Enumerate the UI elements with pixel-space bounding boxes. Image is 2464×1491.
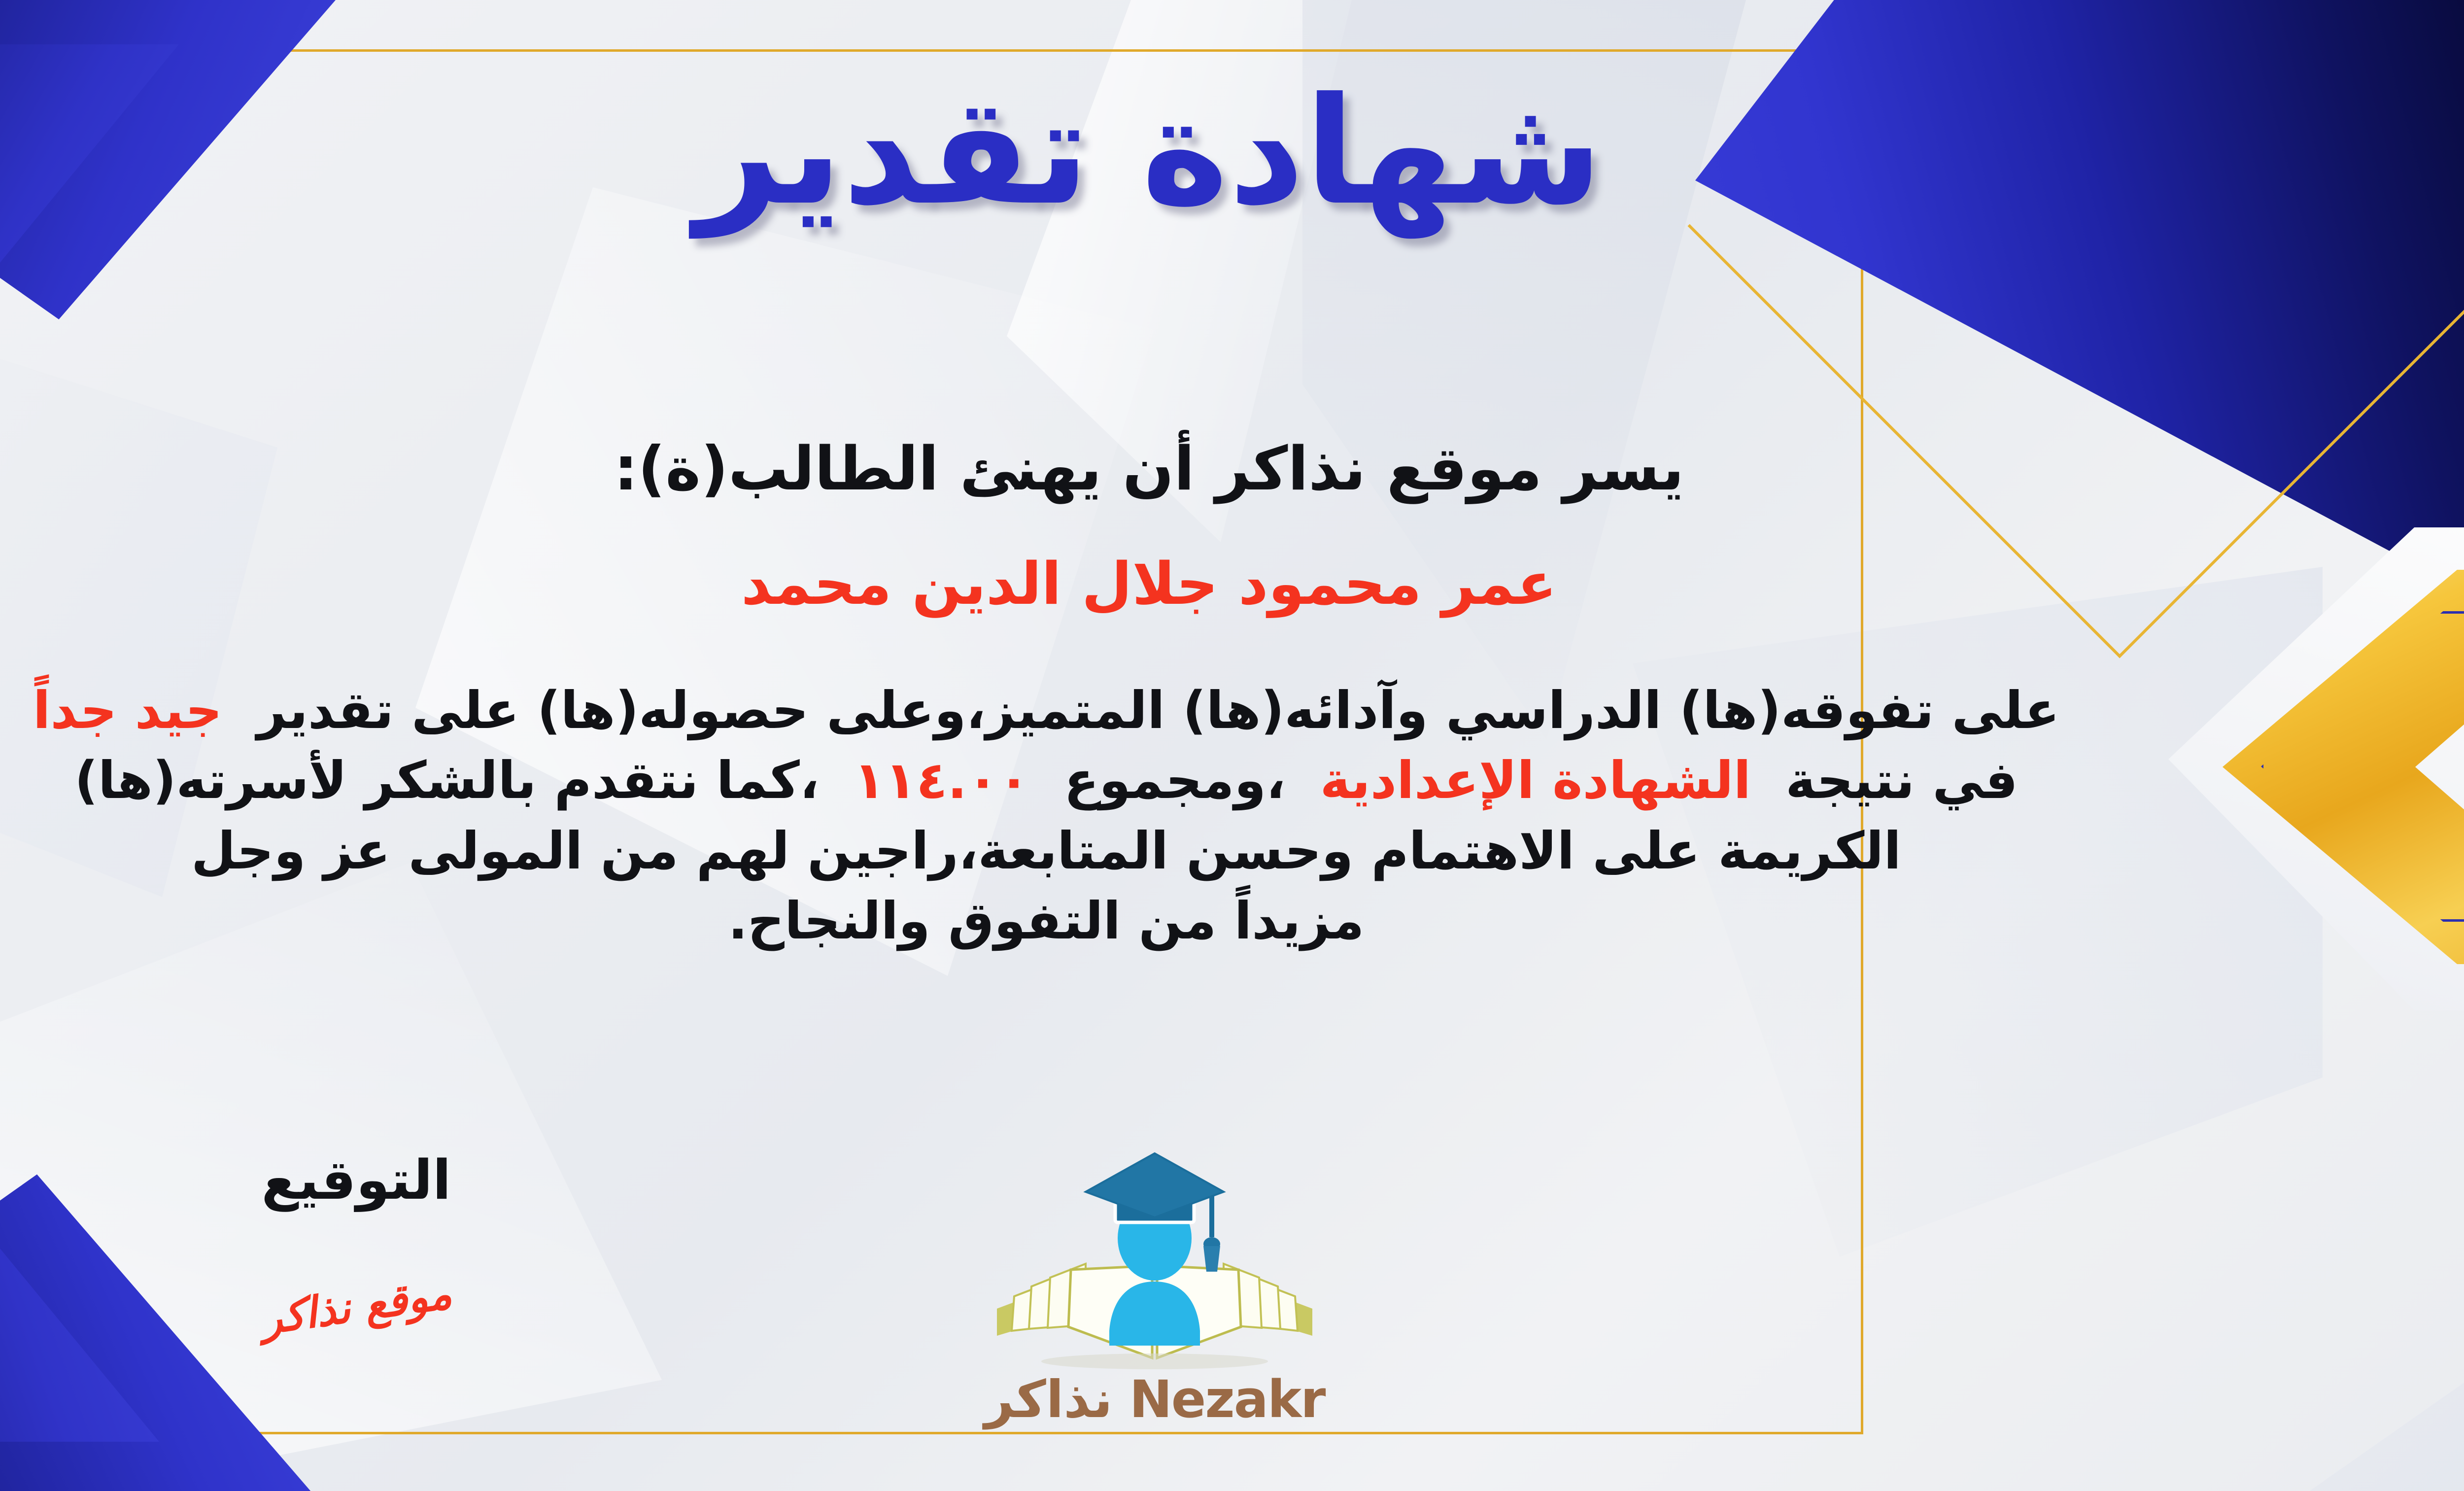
signature-handwriting: موقع نذاكر <box>211 1262 501 1351</box>
certificate-body: على تفوقه(ها) الدراسي وآدائه(ها) المتميز… <box>0 675 2101 956</box>
mortarboard-top <box>1086 1153 1224 1217</box>
body-line-1: على تفوقه(ها) الدراسي وآدائه(ها) المتميز… <box>0 675 2101 745</box>
result-prefix: في نتيجة <box>1785 750 2018 810</box>
exam-name: الشهادة الإعدادية <box>1320 750 1751 810</box>
logo-wordmark: Nezakr نذاكر <box>967 1369 1342 1429</box>
signature-label: التوقيع <box>218 1148 494 1212</box>
certificate-page: شهادة تقدير يسر موقع نذاكر أن يهنئ الطال… <box>0 0 2464 1491</box>
body-line-4: مزيداً من التفوق والنجاح. <box>0 886 2101 956</box>
nezakr-logo: Nezakr نذاكر <box>967 1134 1342 1429</box>
book-shadow <box>1041 1353 1268 1369</box>
greeting-line: يسر موقع نذاكر أن يهنئ الطالب(ة): <box>0 434 2464 504</box>
student-name: عمر محمود جلال الدين محمد <box>0 550 2464 618</box>
tassel-fringe <box>1203 1246 1220 1272</box>
certificate-title: شهادة تقدير <box>0 74 2464 229</box>
certificate-content: شهادة تقدير يسر موقع نذاكر أن يهنئ الطال… <box>0 0 2464 1491</box>
body-line-2: في نتيجةالشهادة الإعدادية،ومجموع١١٤.٠٠،ك… <box>0 745 2101 815</box>
grade-value: جيد جداً <box>33 680 222 740</box>
thanks-text: ،كما نتقدم بالشكر لأسرته(ها) <box>74 750 819 810</box>
body-line-3: الكريمة على الاهتمام وحسن المتابعة،راجين… <box>0 816 2101 886</box>
total-label: ،ومجموع <box>1064 750 1285 810</box>
body-line-1-text: على تفوقه(ها) الدراسي وآدائه(ها) المتميز… <box>257 680 2059 740</box>
total-score: ١١٤.٠٠ <box>854 750 1029 810</box>
